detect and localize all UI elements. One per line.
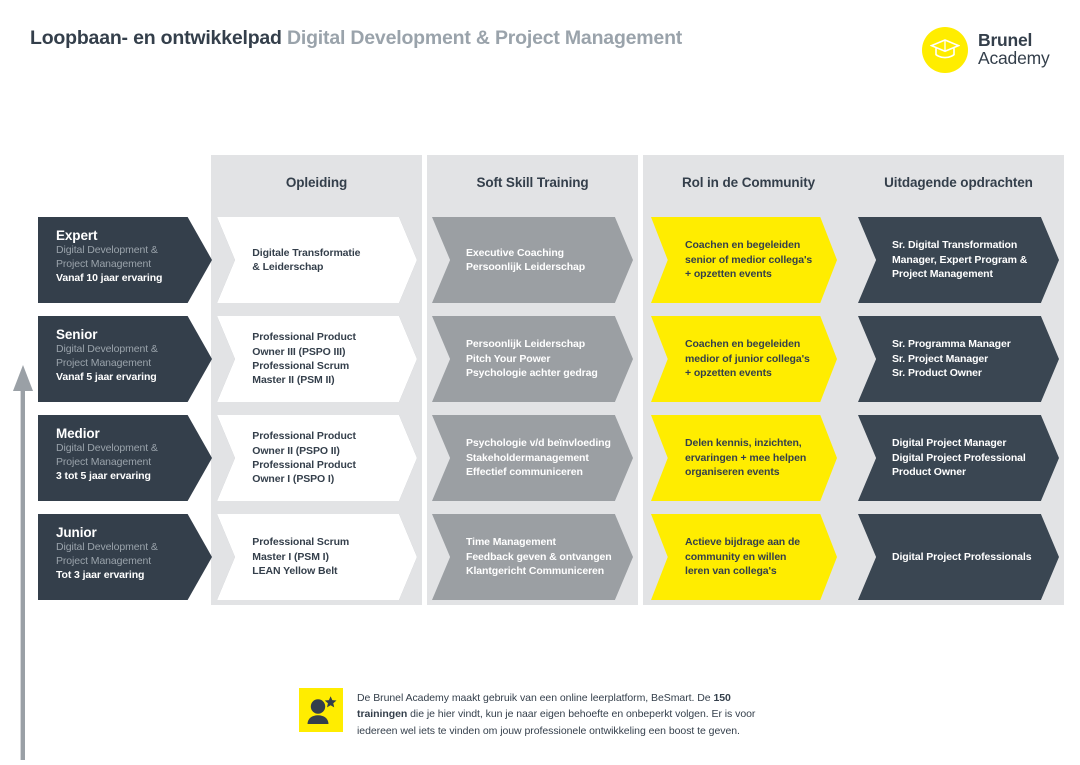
cell-opdrachten-medior: Digital Project ManagerDigital Project P… xyxy=(858,415,1059,501)
logo-sub: Academy xyxy=(978,50,1050,68)
cell-opleiding-medior: Professional ProductOwner II (PSPO II)Pr… xyxy=(217,415,417,501)
matrix-row: Medior Digital Development & Project Man… xyxy=(0,415,1080,501)
page-footer: De Brunel Academy maakt gebruik van een … xyxy=(0,680,1080,750)
level-title: Expert xyxy=(56,228,212,244)
cell-inner: Digitale Transformatie& Leiderschap xyxy=(218,218,415,301)
cell-community-expert: Coachen en begeleidensenior of medior co… xyxy=(651,217,837,303)
cell-opleiding-expert: Digitale Transformatie& Leiderschap xyxy=(217,217,417,303)
level-experience: Vanaf 5 jaar ervaring xyxy=(56,371,212,385)
matrix-row: Junior Digital Development & Project Man… xyxy=(0,514,1080,600)
level-discipline-line2: Project Management xyxy=(56,357,212,371)
column-header-opleiding: Opleiding xyxy=(211,175,422,190)
cell-text: Sr. Digital TransformationManager, Exper… xyxy=(858,238,1041,281)
cell-text: Coachen en begeleidenmedior of junior co… xyxy=(651,337,824,380)
column-header-rol-in-de-community: Rol in de Community xyxy=(643,175,854,190)
cell-text: Time ManagementFeedback geven & ontvange… xyxy=(432,535,626,578)
cell-text: Persoonlijk LeiderschapPitch Your PowerP… xyxy=(432,337,612,380)
footer-text-part1: De Brunel Academy maakt gebruik van een … xyxy=(357,692,713,704)
footer-text-part2: die je hier vindt, kun je naar eigen beh… xyxy=(357,708,755,736)
level-title: Medior xyxy=(56,426,212,442)
matrix-row: Senior Digital Development & Project Man… xyxy=(0,316,1080,402)
cell-inner: Professional ProductOwner II (PSPO II)Pr… xyxy=(218,416,415,499)
cell-text: Executive CoachingPersoonlijk Leiderscha… xyxy=(432,246,599,275)
level-title: Junior xyxy=(56,525,212,541)
cell-inner: Professional ProductOwner III (PSPO III)… xyxy=(218,317,415,400)
cell-opdrachten-senior: Sr. Programma ManagerSr. Project Manager… xyxy=(858,316,1059,402)
graduation-cap-icon xyxy=(922,27,968,73)
cell-soft-skill-junior: Time ManagementFeedback geven & ontvange… xyxy=(432,514,633,600)
footer-text: De Brunel Academy maakt gebruik van een … xyxy=(357,690,777,739)
cell-opdrachten-expert: Sr. Digital TransformationManager, Exper… xyxy=(858,217,1059,303)
cell-text: Delen kennis, inzichten,ervaringen + mee… xyxy=(651,436,820,479)
logo-wordmark: Brunel Academy xyxy=(978,32,1050,68)
level-experience: Tot 3 jaar ervaring xyxy=(56,569,212,583)
level-card-junior: Junior Digital Development & Project Man… xyxy=(38,514,212,600)
career-path-matrix: Opleiding Soft Skill Training Rol in de … xyxy=(0,155,1080,605)
cell-community-senior: Coachen en begeleidenmedior of junior co… xyxy=(651,316,837,402)
level-discipline-line1: Digital Development & xyxy=(56,343,212,357)
page-title-subtitle: Digital Development & Project Management xyxy=(287,27,682,49)
matrix-row: Expert Digital Development & Project Man… xyxy=(0,217,1080,303)
cell-text: Professional ProductOwner III (PSPO III)… xyxy=(218,330,370,388)
level-card-senior: Senior Digital Development & Project Man… xyxy=(38,316,212,402)
cell-text: Coachen en begeleidensenior of medior co… xyxy=(651,238,826,281)
cell-soft-skill-medior: Psychologie v/d beïnvloedingStakeholderm… xyxy=(432,415,633,501)
cell-inner: Professional ScrumMaster I (PSM I)LEAN Y… xyxy=(218,515,415,598)
level-discipline-line2: Project Management xyxy=(56,555,212,569)
cell-text: Digital Project ManagerDigital Project P… xyxy=(858,436,1040,479)
cell-text: Digital Project Professionals xyxy=(858,550,1045,564)
page-title-main: Loopbaan- en ontwikkelpad xyxy=(30,27,282,49)
level-discipline-line1: Digital Development & xyxy=(56,244,212,258)
cell-opleiding-senior: Professional ProductOwner III (PSPO III)… xyxy=(217,316,417,402)
cell-opleiding-junior: Professional ScrumMaster I (PSM I)LEAN Y… xyxy=(217,514,417,600)
cell-text: Digitale Transformatie& Leiderschap xyxy=(218,246,374,275)
cell-soft-skill-senior: Persoonlijk LeiderschapPitch Your PowerP… xyxy=(432,316,633,402)
cell-community-junior: Actieve bijdrage aan decommunity en will… xyxy=(651,514,837,600)
level-card-medior: Medior Digital Development & Project Man… xyxy=(38,415,212,501)
page-title: Loopbaan- en ontwikkelpad Digital Develo… xyxy=(30,27,682,50)
cell-text: Professional ProductOwner II (PSPO II)Pr… xyxy=(218,429,370,487)
level-experience: Vanaf 10 jaar ervaring xyxy=(56,272,212,286)
level-title: Senior xyxy=(56,327,212,343)
person-star-icon xyxy=(299,688,343,732)
cell-opdrachten-junior: Digital Project Professionals xyxy=(858,514,1059,600)
level-discipline-line2: Project Management xyxy=(56,456,212,470)
cell-text: Professional ScrumMaster I (PSM I)LEAN Y… xyxy=(218,535,363,578)
cell-text: Psychologie v/d beïnvloedingStakeholderm… xyxy=(432,436,625,479)
level-discipline-line2: Project Management xyxy=(56,258,212,272)
cell-community-medior: Delen kennis, inzichten,ervaringen + mee… xyxy=(651,415,837,501)
level-discipline-line1: Digital Development & xyxy=(56,541,212,555)
level-discipline-line1: Digital Development & xyxy=(56,442,212,456)
cell-text: Actieve bijdrage aan decommunity en will… xyxy=(651,535,814,578)
page-header: Loopbaan- en ontwikkelpad Digital Develo… xyxy=(0,0,1080,100)
cell-soft-skill-expert: Executive CoachingPersoonlijk Leiderscha… xyxy=(432,217,633,303)
column-header-uitdagende-opdrachten: Uitdagende opdrachten xyxy=(853,175,1064,190)
level-card-expert: Expert Digital Development & Project Man… xyxy=(38,217,212,303)
column-header-soft-skill-training: Soft Skill Training xyxy=(427,175,638,190)
level-experience: 3 tot 5 jaar ervaring xyxy=(56,470,212,484)
brunel-academy-logo: Brunel Academy xyxy=(922,24,1062,76)
cell-text: Sr. Programma ManagerSr. Project Manager… xyxy=(858,337,1025,380)
